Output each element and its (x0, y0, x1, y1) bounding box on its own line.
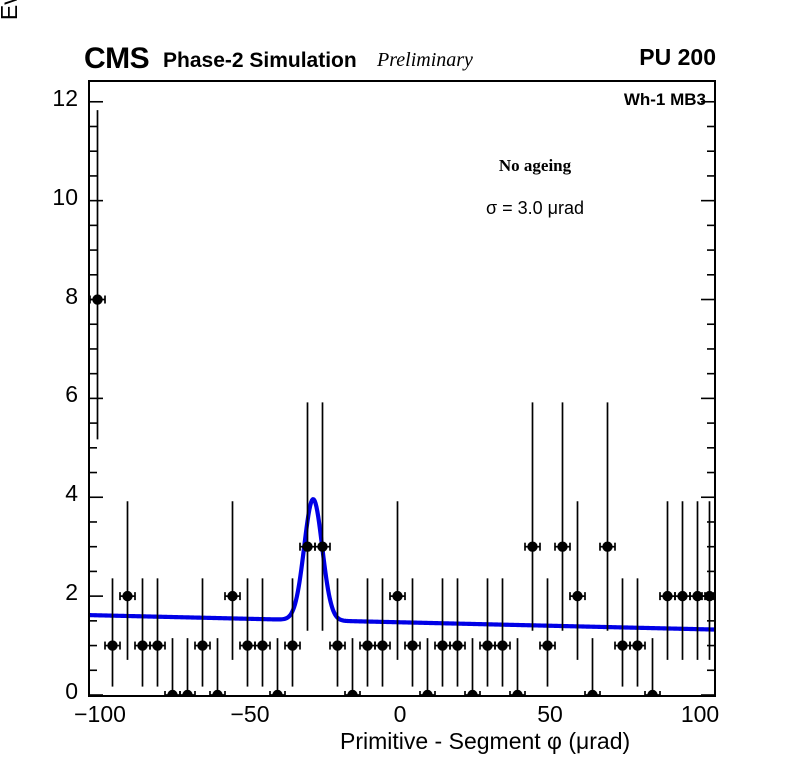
marker (662, 591, 672, 601)
marker (647, 690, 657, 695)
data-point (480, 578, 495, 686)
data-point (300, 402, 315, 630)
data-point (555, 402, 570, 630)
data-point (450, 578, 465, 686)
data-point (660, 501, 675, 660)
y-axis-title: Events (0, 0, 23, 75)
x-tick-label: 100 (655, 701, 745, 728)
marker (227, 591, 237, 601)
marker (167, 690, 177, 695)
y-tick-label: 0 (18, 678, 78, 705)
marker (272, 690, 282, 695)
data-point (180, 638, 195, 695)
data-point (525, 402, 540, 630)
data-point (165, 638, 180, 695)
marker (242, 640, 252, 650)
header-status-text: Preliminary (377, 50, 473, 70)
marker (407, 640, 417, 650)
data-point (225, 501, 240, 660)
data-point (570, 501, 585, 660)
marker (542, 640, 552, 650)
marker (557, 541, 567, 551)
marker (482, 640, 492, 650)
chamber-label: Wh-1 MB3 (624, 90, 706, 110)
data-point (255, 578, 270, 686)
data-point (702, 501, 714, 660)
marker (212, 690, 222, 695)
data-point (105, 578, 120, 686)
marker (362, 640, 372, 650)
data-point (210, 638, 225, 695)
marker (137, 640, 147, 650)
data-point (270, 638, 285, 695)
chart-header: CMS Phase-2 Simulation Preliminary PU 20… (0, 0, 796, 78)
data-point (675, 501, 690, 660)
marker (317, 541, 327, 551)
y-tick-label: 6 (18, 381, 78, 408)
marker (587, 690, 597, 695)
data-point (540, 578, 555, 686)
cms-logo-text: CMS (84, 44, 149, 74)
y-tick-label: 12 (18, 85, 78, 112)
data-point (360, 578, 375, 686)
data-point (150, 578, 165, 686)
marker (692, 591, 702, 601)
data-point (630, 578, 645, 686)
data-point (510, 638, 525, 695)
marker (392, 591, 402, 601)
x-tick-label: 50 (505, 701, 595, 728)
x-tick-label: −100 (55, 701, 145, 728)
data-point (195, 578, 210, 686)
marker (377, 640, 387, 650)
marker (527, 541, 537, 551)
annotation-ageing: No ageing (420, 156, 650, 176)
marker (677, 591, 687, 601)
x-tick-label: −50 (205, 701, 295, 728)
fit-curve (90, 499, 714, 629)
data-point (375, 578, 390, 686)
marker (512, 690, 522, 695)
data-point (600, 402, 615, 630)
y-tick-label: 10 (18, 184, 78, 211)
marker (182, 690, 192, 695)
data-point (645, 638, 660, 695)
data-point (405, 578, 420, 686)
y-tick-label: 4 (18, 480, 78, 507)
marker (602, 541, 612, 551)
data-point (495, 578, 510, 686)
marker (92, 294, 102, 304)
marker (572, 591, 582, 601)
y-tick-label: 8 (18, 283, 78, 310)
marker (197, 640, 207, 650)
marker (437, 640, 447, 650)
marker (422, 690, 432, 695)
marker (452, 640, 462, 650)
marker (332, 640, 342, 650)
pileup-label: PU 200 (639, 46, 716, 69)
data-point (135, 578, 150, 686)
y-tick-label: 2 (18, 579, 78, 606)
data-point (435, 578, 450, 686)
marker (122, 591, 132, 601)
header-subtitle: Phase-2 Simulation (163, 50, 357, 71)
data-point (690, 501, 705, 660)
axis-ticks (90, 102, 714, 695)
marker (287, 640, 297, 650)
data-point (330, 578, 345, 686)
marker (152, 640, 162, 650)
data-point (615, 578, 630, 686)
marker (347, 690, 357, 695)
x-tick-label: 0 (355, 701, 445, 728)
marker (467, 690, 477, 695)
annotation-sigma: σ = 3.0 μrad (420, 198, 650, 219)
data-point (390, 501, 405, 660)
marker (497, 640, 507, 650)
chart-root: CMS Phase-2 Simulation Preliminary PU 20… (0, 0, 796, 772)
data-point (465, 638, 480, 695)
data-point (120, 501, 135, 660)
marker (302, 541, 312, 551)
marker (257, 640, 267, 650)
x-axis-title: Primitive - Segment φ (μrad) (340, 728, 630, 755)
marker (617, 640, 627, 650)
marker (107, 640, 117, 650)
marker (632, 640, 642, 650)
data-point (240, 578, 255, 686)
data-point (585, 638, 600, 695)
data-point (420, 638, 435, 695)
data-point (345, 638, 360, 695)
